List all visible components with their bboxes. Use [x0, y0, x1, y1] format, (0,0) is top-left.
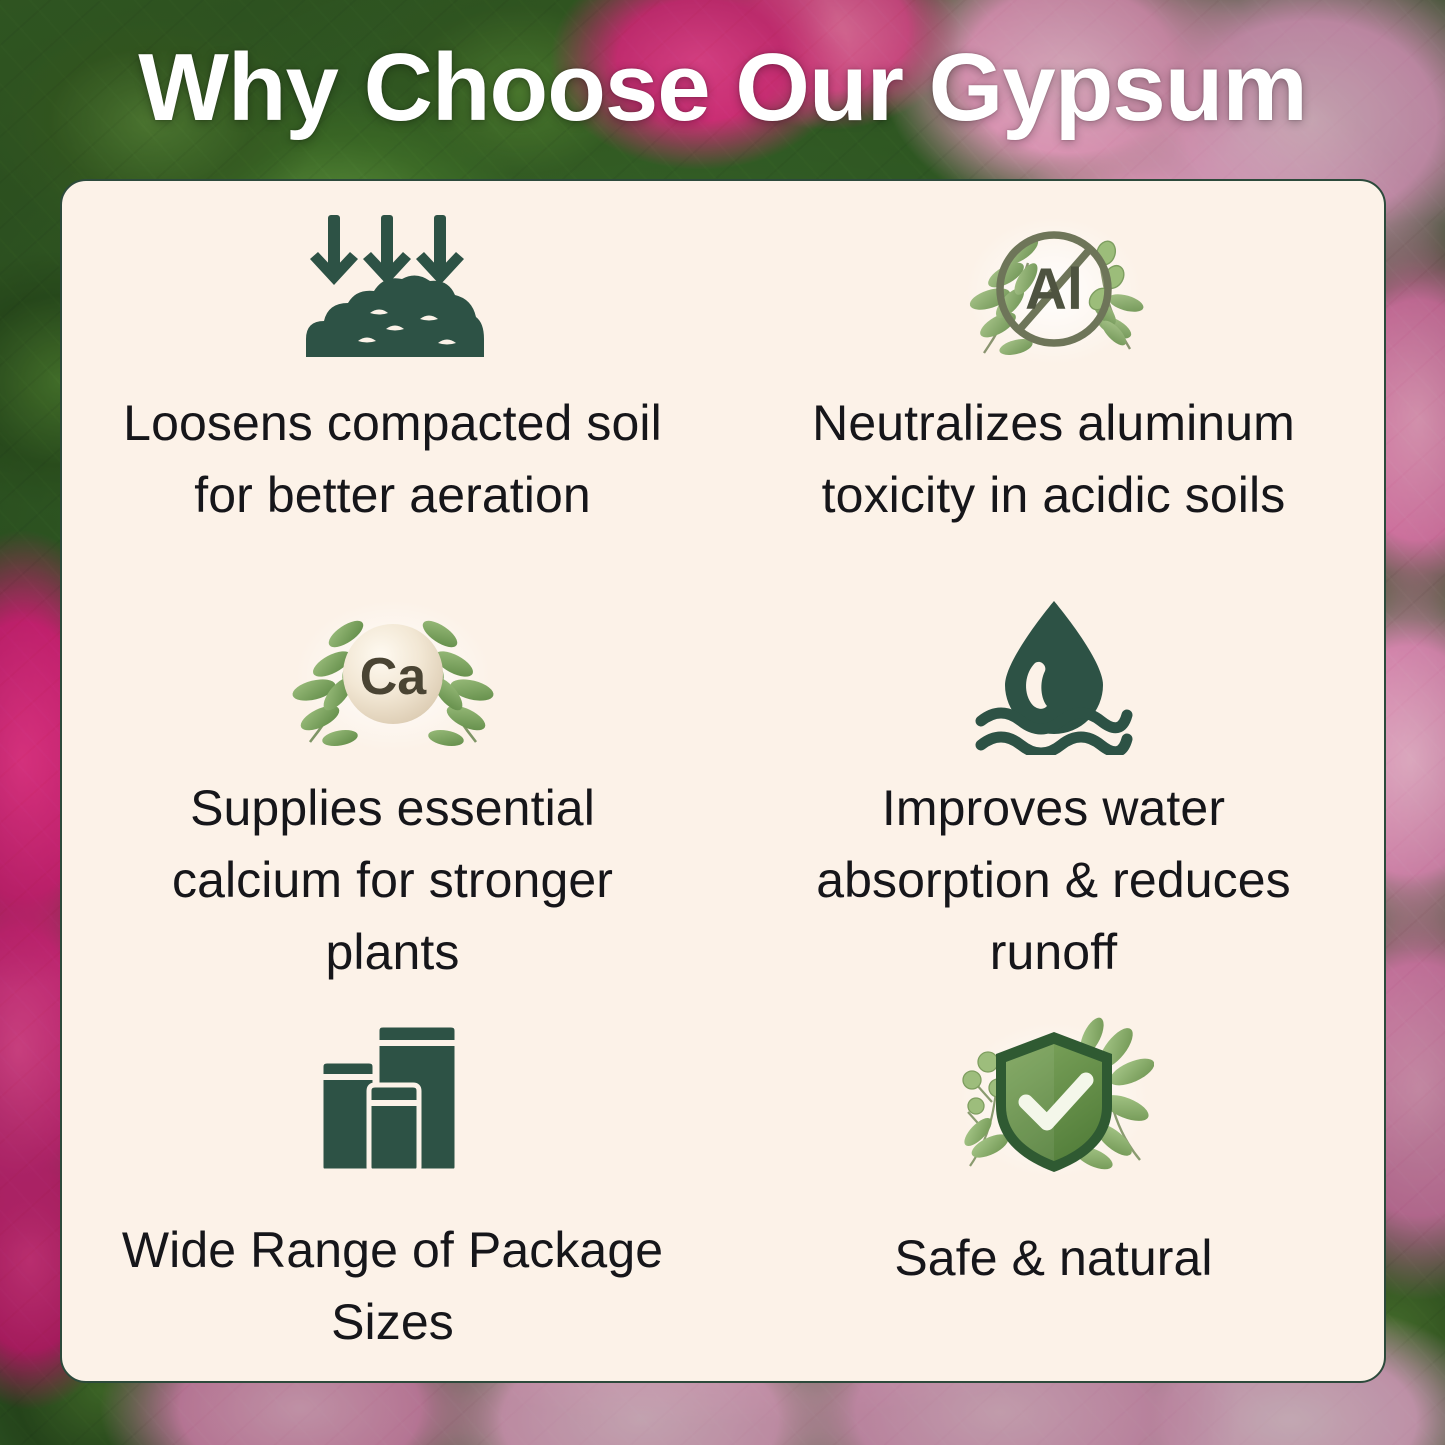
benefit-caption: Neutralizes aluminum toxicity in acidic … — [774, 387, 1334, 531]
benefit-caption: Wide Range of Package Sizes — [113, 1214, 673, 1358]
benefit-item-aluminum: Al Neutralizes aluminum toxicity in acid… — [723, 181, 1384, 574]
water-drop-waves-icon — [969, 588, 1139, 760]
benefit-item-safe: Safe & natural — [723, 988, 1384, 1381]
benefits-card: Loosens compacted soil for better aerati… — [60, 179, 1386, 1383]
benefit-caption: Supplies essential calcium for stronger … — [113, 772, 673, 988]
benefit-caption: Improves water absorption & reduces runo… — [774, 772, 1334, 988]
benefit-caption: Safe & natural — [894, 1222, 1212, 1294]
no-aluminum-icon: Al — [954, 203, 1154, 375]
benefit-caption: Loosens compacted soil for better aerati… — [113, 387, 673, 531]
calcium-symbol-text: Ca — [359, 648, 427, 706]
aluminum-symbol-text: Al — [1025, 257, 1083, 322]
soil-arrows-icon — [298, 203, 488, 375]
benefit-item-calcium: Ca Supplies essential calcium for strong… — [62, 574, 723, 988]
page-title: Why Choose Our Gypsum — [0, 38, 1445, 139]
benefit-item-water: Improves water absorption & reduces runo… — [723, 574, 1384, 988]
package-bags-icon — [303, 1006, 483, 1188]
benefit-item-aeration: Loosens compacted soil for better aerati… — [62, 181, 723, 574]
benefit-item-packages: Wide Range of Package Sizes — [62, 988, 723, 1381]
calcium-sphere-icon: Ca — [288, 588, 498, 760]
benefits-grid: Loosens compacted soil for better aerati… — [62, 181, 1384, 1381]
shield-check-leaves-icon — [954, 1006, 1154, 1188]
infographic-canvas: Why Choose Our Gypsum — [0, 0, 1445, 1445]
